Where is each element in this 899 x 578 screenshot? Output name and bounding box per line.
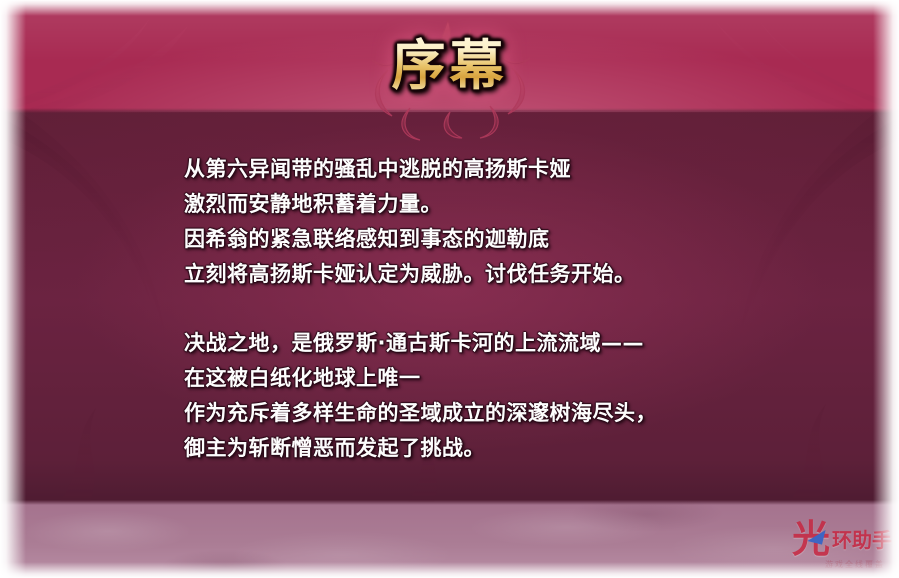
story-line: 因希翁的紧急联络感知到事态的迦勒底	[184, 222, 804, 257]
story-line: 决战之地，是俄罗斯·通古斯卡河的上流流域——	[184, 326, 804, 361]
title-block: 序幕	[0, 34, 899, 96]
story-line: 从第六异闻带的骚乱中逃脱的高扬斯卡娅	[184, 152, 804, 187]
story-paragraph: 决战之地，是俄罗斯·通古斯卡河的上流流域—— 在这被白纸化地球上唯一 作为充斥着…	[184, 326, 804, 466]
prologue-cutscene-screen: 序幕 从第六异闻带的骚乱中逃脱的高扬斯卡娅 激烈而安静地积蓄着力量。 因希翁的紧…	[0, 0, 899, 578]
story-text-block: 从第六异闻带的骚乱中逃脱的高扬斯卡娅 激烈而安静地积蓄着力量。 因希翁的紧急联络…	[184, 152, 804, 466]
watermark-subtitle: 游戏全线覆盖	[817, 560, 893, 570]
story-line: 立刻将高扬斯卡娅认定为威胁。讨伐任务开始。	[184, 257, 804, 292]
page-title: 序幕	[392, 34, 508, 96]
watermark-brand-name: 环助手	[832, 529, 892, 551]
watermark-logo: 光 环助手 游戏全线覆盖	[791, 516, 893, 572]
story-line: 在这被白纸化地球上唯一	[184, 361, 804, 396]
story-paragraph: 从第六异闻带的骚乱中逃脱的高扬斯卡娅 激烈而安静地积蓄着力量。 因希翁的紧急联络…	[184, 152, 804, 292]
story-line: 御主为斩断憎恶而发起了挑战。	[184, 431, 804, 466]
watermark-row: 光 环助手	[791, 520, 893, 560]
background-bottom-texture	[0, 500, 899, 578]
story-line: 激烈而安静地积蓄着力量。	[184, 187, 804, 222]
watermark-mark: 光	[791, 520, 831, 560]
story-line: 作为充斥着多样生命的圣域成立的深邃树海尽头，	[184, 396, 804, 431]
